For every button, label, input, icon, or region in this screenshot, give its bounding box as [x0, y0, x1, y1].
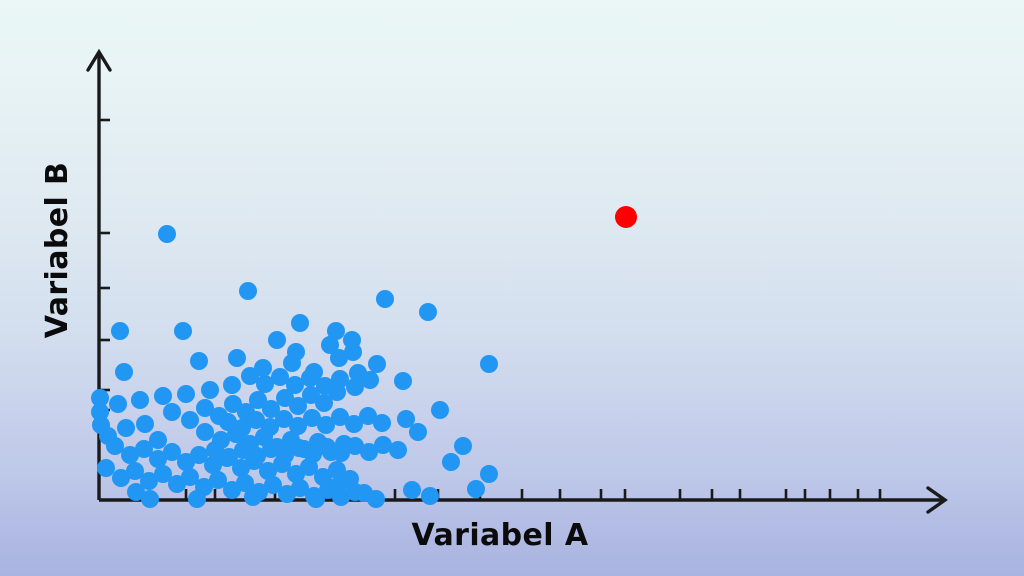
data-point: [141, 490, 159, 508]
data-point: [442, 453, 460, 471]
data-point: [373, 414, 391, 432]
data-point: [228, 349, 246, 367]
data-point: [329, 477, 347, 495]
data-point: [106, 437, 124, 455]
plot-canvas: [0, 0, 1024, 576]
data-point: [321, 336, 339, 354]
data-point: [307, 490, 325, 508]
data-point: [467, 480, 485, 498]
data-point: [111, 322, 129, 340]
data-point: [109, 395, 127, 413]
data-point: [131, 391, 149, 409]
data-point: [223, 376, 241, 394]
data-point: [389, 441, 407, 459]
data-point: [480, 355, 498, 373]
data-point: [136, 415, 154, 433]
x-axis-label: Variabel A: [0, 518, 1012, 553]
data-point: [117, 419, 135, 437]
data-point: [177, 385, 195, 403]
data-point: [409, 423, 427, 441]
data-point: [480, 465, 498, 483]
data-point: [268, 331, 286, 349]
data-point: [344, 343, 362, 361]
data-point: [431, 401, 449, 419]
data-point: [190, 352, 208, 370]
data-point: [239, 282, 257, 300]
data-point: [163, 403, 181, 421]
data-point: [181, 411, 199, 429]
data-point: [376, 290, 394, 308]
data-point: [361, 371, 379, 389]
data-point: [368, 355, 386, 373]
data-point: [421, 487, 439, 505]
series-data-utama: [91, 225, 498, 508]
data-point: [196, 423, 214, 441]
scatter-plot-figure: Variabel A Variabel B: [0, 0, 1024, 576]
data-point: [454, 437, 472, 455]
data-point: [174, 322, 192, 340]
data-point: [188, 490, 206, 508]
data-point: [367, 490, 385, 508]
data-point: [419, 303, 437, 321]
data-points-group: [91, 206, 637, 508]
data-point: [115, 363, 133, 381]
data-point: [154, 387, 172, 405]
data-point: [403, 481, 421, 499]
data-point: [615, 206, 637, 228]
data-point: [283, 354, 301, 372]
series-outlier: [615, 206, 637, 228]
data-point: [97, 459, 115, 477]
y-axis-label: Variabel B: [28, 100, 88, 400]
data-point: [244, 488, 262, 506]
data-point: [158, 225, 176, 243]
data-point: [201, 381, 219, 399]
data-point: [291, 314, 309, 332]
data-point: [394, 372, 412, 390]
